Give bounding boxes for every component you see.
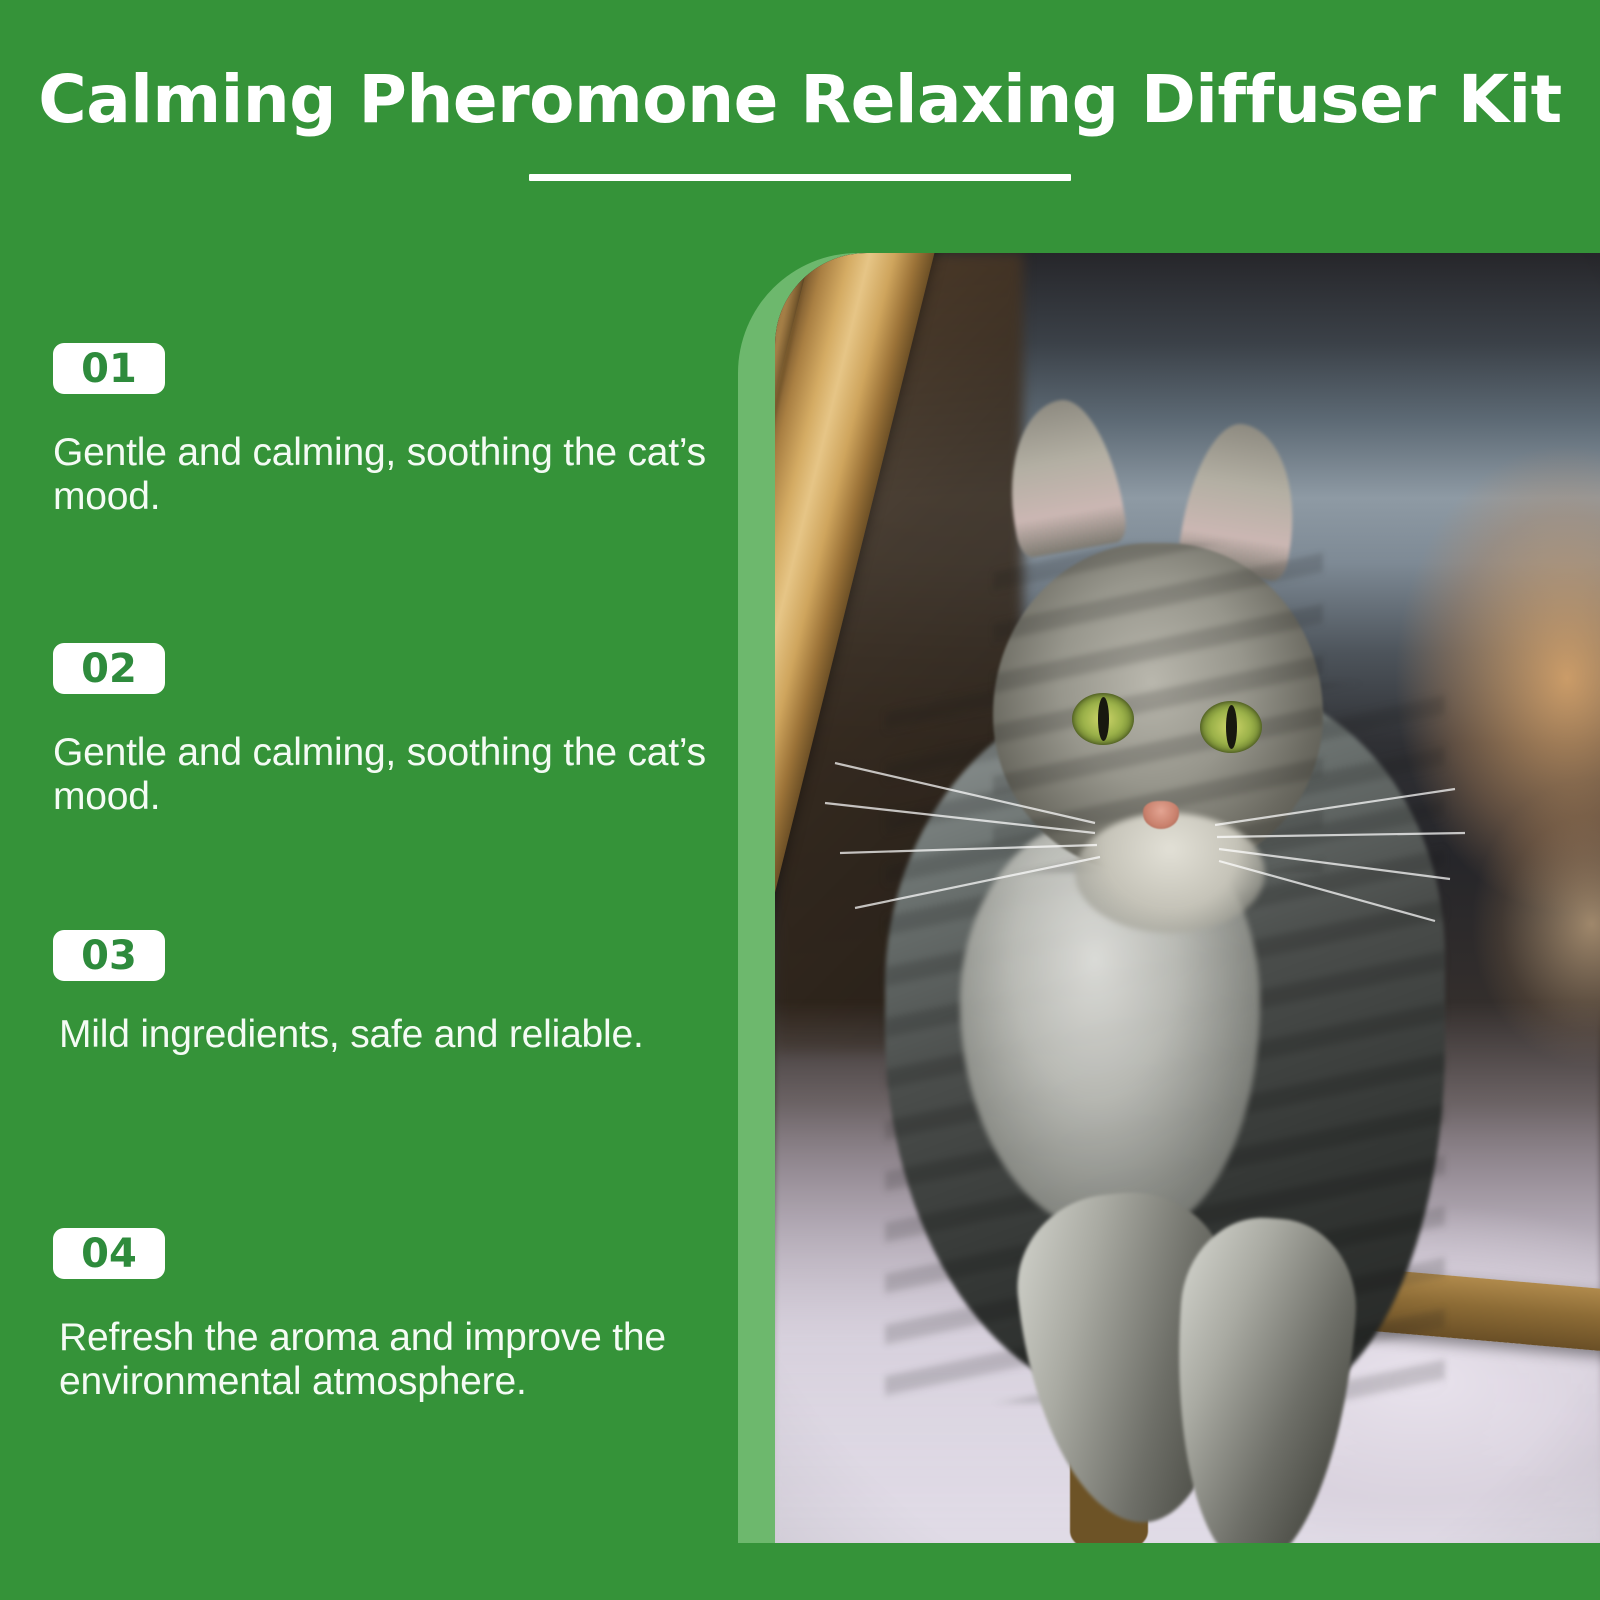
product-infographic-poster: Calming Pheromone Relaxing Diffuser Kit … (0, 0, 1600, 1600)
feature-description: Gentle and calming, soothing the cat’s m… (53, 431, 713, 519)
feature-number: 02 (81, 649, 137, 689)
feature-badge-04: 04 (53, 1228, 165, 1279)
feature-badge-02: 02 (53, 643, 165, 694)
feature-item-01: 01 Gentle and calming, soothing the cat’… (53, 343, 743, 519)
feature-item-04: 04 Refresh the aroma and improve the env… (53, 1228, 743, 1404)
feature-number: 04 (81, 1234, 137, 1274)
feature-description: Refresh the aroma and improve the enviro… (53, 1316, 713, 1404)
product-photo (775, 253, 1600, 1543)
title-block: Calming Pheromone Relaxing Diffuser Kit (0, 62, 1600, 181)
page-title: Calming Pheromone Relaxing Diffuser Kit (0, 62, 1600, 138)
feature-number: 01 (81, 349, 137, 389)
feature-item-02: 02 Gentle and calming, soothing the cat’… (53, 643, 743, 819)
feature-number: 03 (81, 936, 137, 976)
feature-badge-01: 01 (53, 343, 165, 394)
title-divider (529, 174, 1071, 181)
feature-description: Mild ingredients, safe and reliable. (53, 1013, 713, 1057)
feature-item-03: 03 Mild ingredients, safe and reliable. (53, 930, 743, 1057)
photo-vignette (775, 253, 1600, 1543)
feature-description: Gentle and calming, soothing the cat’s m… (53, 731, 713, 819)
feature-badge-03: 03 (53, 930, 165, 981)
